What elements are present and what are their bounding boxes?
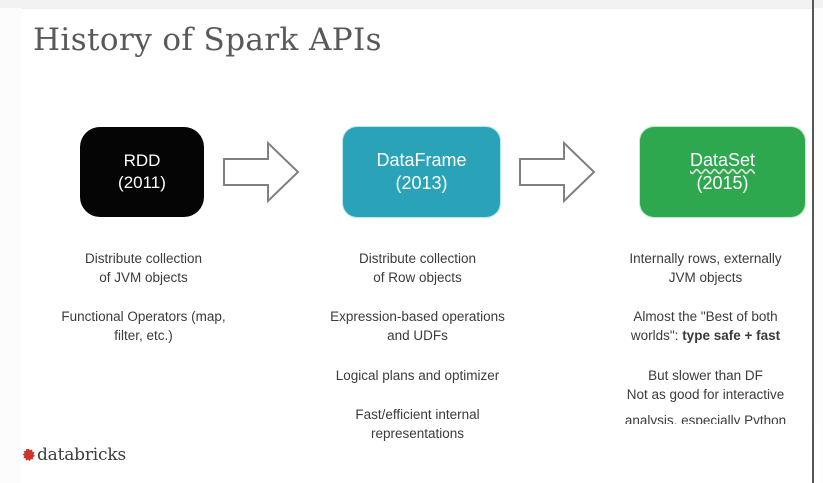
dataframe-desc-line: Logical plans and optimizer xyxy=(290,366,545,385)
rdd-desc-block-2: Functional Operators (map, filter, etc.) xyxy=(22,307,265,345)
dataframe-desc-block-3: Logical plans and optimizer xyxy=(290,366,545,385)
rdd-description-column: Distribute collection of JVM objects Fun… xyxy=(22,249,265,346)
dataset-desc-line: Internally rows, externally xyxy=(598,249,813,268)
slide-canvas: History of Spark APIs RDD (2011) DataFra… xyxy=(0,0,823,483)
left-edge-shade xyxy=(0,8,22,483)
dataframe-desc-block-4: Fast/efficient internal representations xyxy=(290,405,545,443)
dataframe-desc-line: Fast/efficient internal xyxy=(290,405,545,424)
dataset-desc-emphasis: type safe + fast xyxy=(682,328,780,343)
dataset-desc-line-rich: worlds": type safe + fast xyxy=(598,326,813,345)
dataset-desc-block-2: Almost the "Best of both worlds": type s… xyxy=(598,307,813,345)
rdd-desc-line: Distribute collection xyxy=(22,249,265,268)
databricks-logo: databricks xyxy=(22,445,126,465)
dataset-desc-line: Almost the "Best of both xyxy=(598,307,813,326)
dataframe-description-column: Distribute collection of Row objects Exp… xyxy=(290,249,545,443)
rdd-desc-line: Functional Operators (map, xyxy=(22,307,265,326)
arrow-dataframe-to-dataset-icon xyxy=(518,140,596,209)
dataframe-desc-block-1: Distribute collection of Row objects xyxy=(290,249,545,287)
dataset-desc-prefix: worlds": xyxy=(631,328,682,343)
node-rdd-name: RDD xyxy=(124,150,161,172)
dataframe-desc-block-2: Expression-based operations and UDFs xyxy=(290,307,545,345)
rdd-desc-block-1: Distribute collection of JVM objects xyxy=(22,249,265,287)
rdd-desc-line: filter, etc.) xyxy=(22,326,265,345)
right-edge-shade xyxy=(813,8,823,483)
dataframe-desc-line: Expression-based operations xyxy=(290,307,545,326)
node-dataframe-year: (2013) xyxy=(395,172,447,195)
page-title: History of Spark APIs xyxy=(33,22,382,58)
node-dataset: DataSet (2015) xyxy=(640,127,805,217)
node-dataframe-name: DataFrame xyxy=(376,149,466,172)
bottom-clip-mask xyxy=(590,424,820,483)
right-frame-border xyxy=(812,0,814,483)
dataset-description-column: Internally rows, externally JVM objects … xyxy=(598,249,813,404)
node-rdd-year: (2011) xyxy=(118,172,166,194)
dataframe-desc-line: representations xyxy=(290,424,545,443)
dataframe-desc-line: of Row objects xyxy=(290,268,545,287)
databricks-logo-text: databricks xyxy=(37,445,126,465)
node-dataset-year: (2015) xyxy=(696,172,748,195)
rdd-desc-line: of JVM objects xyxy=(22,268,265,287)
dataset-desc-block-1: Internally rows, externally JVM objects xyxy=(598,249,813,287)
node-dataset-name: DataSet xyxy=(690,149,755,172)
dataset-desc-line: But slower than DF xyxy=(598,366,813,385)
top-edge-band xyxy=(0,0,823,9)
dataframe-desc-line: Distribute collection xyxy=(290,249,545,268)
node-rdd: RDD (2011) xyxy=(80,127,204,217)
arrow-rdd-to-dataframe-icon xyxy=(222,140,300,209)
dataframe-desc-line: and UDFs xyxy=(290,326,545,345)
databricks-logo-mark-icon xyxy=(22,449,35,462)
dataset-desc-line: JVM objects xyxy=(598,268,813,287)
node-dataframe: DataFrame (2013) xyxy=(343,127,500,217)
